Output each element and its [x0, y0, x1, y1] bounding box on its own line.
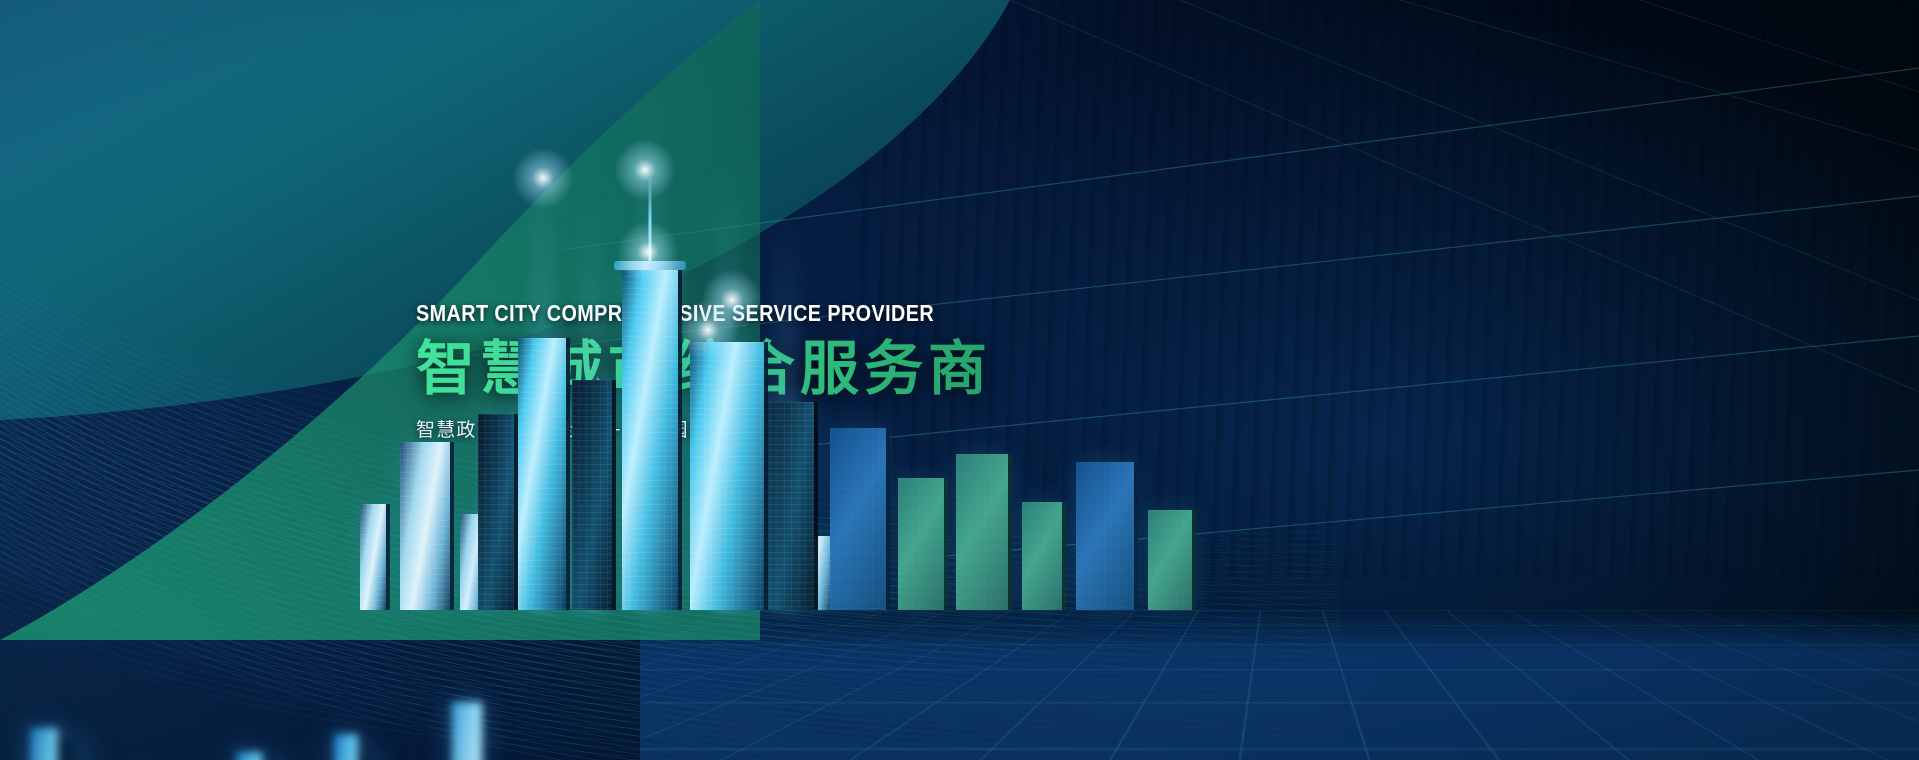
building-slab-green-c — [1022, 502, 1062, 610]
floor-grid — [640, 610, 1919, 760]
building-windows — [360, 504, 386, 610]
building-windows — [756, 402, 814, 610]
building-windows — [1022, 502, 1062, 610]
building-tower-grid-slab — [756, 402, 814, 610]
building-windows — [1148, 510, 1192, 610]
building-slab-green-d — [1076, 462, 1134, 610]
building-slab-blue-right — [830, 428, 886, 610]
foreground-bar — [452, 702, 482, 760]
building-tower-right-glass — [690, 342, 764, 610]
building-tower-mid-tall — [518, 338, 566, 610]
window-glint — [613, 217, 683, 287]
foreground-bar — [358, 754, 378, 760]
foreground-bar — [236, 752, 262, 760]
building-tower-dark-b — [478, 414, 514, 610]
foreground-bar — [58, 740, 82, 760]
building-windows — [518, 338, 566, 610]
foreground-bar — [30, 728, 58, 760]
building-tower-pale — [400, 442, 450, 610]
building-windows — [830, 428, 886, 610]
foreground-bars — [0, 620, 700, 760]
building-windows — [478, 414, 514, 610]
window-glint — [508, 143, 578, 213]
building-slab-green-a — [898, 478, 944, 610]
building-windows — [622, 270, 678, 610]
building-windows — [898, 478, 944, 610]
building-windows — [400, 442, 450, 610]
building-windows — [572, 380, 612, 610]
building-slab-green-b — [956, 454, 1008, 610]
building-spire-tower — [622, 270, 678, 610]
building-slab-green-e — [1148, 510, 1192, 610]
building-windows — [690, 342, 764, 610]
building-windows — [956, 454, 1008, 610]
foreground-bar — [334, 734, 358, 760]
building-tower-small-a — [360, 504, 386, 610]
window-glint — [610, 135, 680, 205]
building-tower-dark-a — [572, 380, 612, 610]
window-glint — [673, 295, 743, 365]
perspective-floor — [640, 610, 1919, 760]
hero-banner: SMART CITY COMPREHENSIVE SERVICE PROVIDE… — [0, 0, 1919, 760]
building-windows — [1076, 462, 1134, 610]
